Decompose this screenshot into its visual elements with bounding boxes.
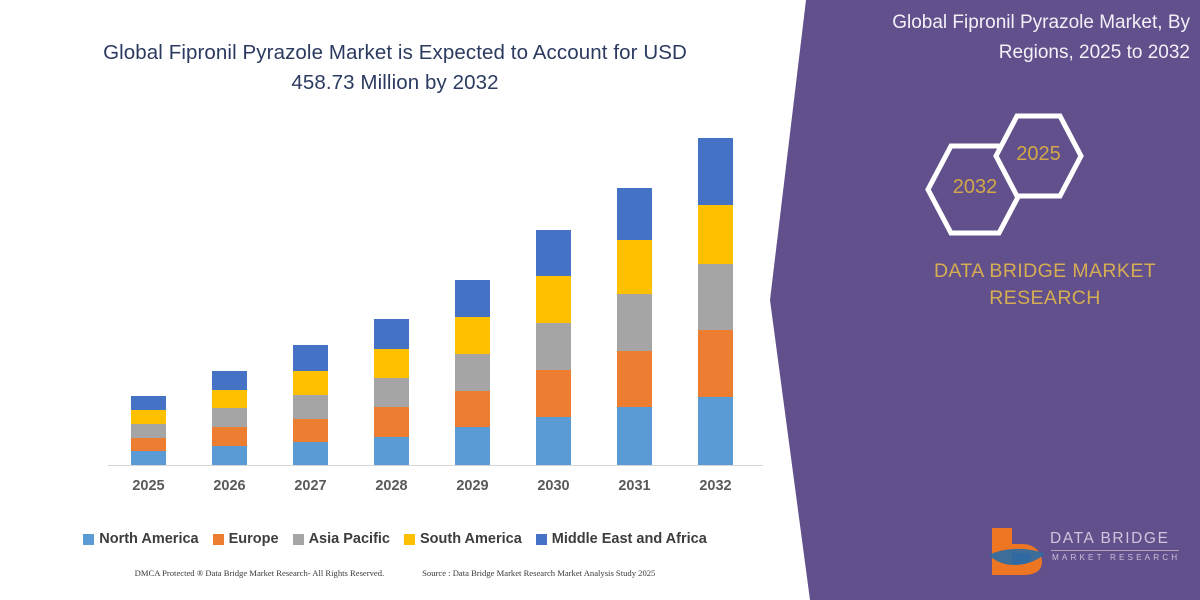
bar-segment-middle-east-and-africa-2027[interactable] — [293, 345, 328, 370]
brand-name: DATA BRIDGE MARKET RESEARCH — [900, 258, 1190, 312]
bar-segment-north-america-2027[interactable] — [293, 442, 328, 466]
page-title: Global Fipronil Pyrazole Market is Expec… — [70, 38, 720, 98]
hexagon-badges: 2032 2025 — [925, 112, 1115, 237]
legend-swatch-icon — [213, 534, 224, 545]
bar-segment-south-america-2027[interactable] — [293, 371, 328, 395]
bar-2025[interactable] — [131, 396, 166, 466]
bar-segment-middle-east-and-africa-2025[interactable] — [131, 396, 166, 411]
bar-2028[interactable] — [374, 319, 409, 466]
bar-2026[interactable] — [212, 371, 247, 466]
bar-segment-north-america-2025[interactable] — [131, 451, 166, 466]
logo-divider — [1051, 550, 1179, 551]
footer-source: Source : Data Bridge Market Research Mar… — [422, 568, 655, 578]
logo-text-main: DATA BRIDGE — [1050, 530, 1170, 548]
bar-segment-north-america-2032[interactable] — [698, 397, 733, 466]
bar-segment-middle-east-and-africa-2032[interactable] — [698, 138, 733, 205]
x-axis-tick-labels: 20252026202720282029203020312032 — [108, 472, 763, 498]
x-label-2028: 2028 — [357, 478, 427, 494]
bar-segment-asia-pacific-2030[interactable] — [536, 323, 571, 369]
legend-label: Middle East and Africa — [552, 531, 707, 547]
bar-segment-europe-2032[interactable] — [698, 330, 733, 397]
bar-segment-north-america-2028[interactable] — [374, 437, 409, 466]
legend-label: Asia Pacific — [309, 531, 390, 547]
legend-item-middle-east-and-africa[interactable]: Middle East and Africa — [536, 531, 707, 547]
bar-2029[interactable] — [455, 280, 490, 466]
bar-segment-middle-east-and-africa-2030[interactable] — [536, 230, 571, 276]
x-label-2030: 2030 — [519, 478, 589, 494]
bar-segment-north-america-2031[interactable] — [617, 407, 652, 466]
bar-segment-north-america-2026[interactable] — [212, 446, 247, 466]
bar-segment-middle-east-and-africa-2028[interactable] — [374, 319, 409, 348]
chart-legend: North AmericaEuropeAsia PacificSouth Ame… — [0, 531, 790, 547]
bar-segment-asia-pacific-2025[interactable] — [131, 424, 166, 438]
legend-label: South America — [420, 531, 522, 547]
legend-item-south-america[interactable]: South America — [404, 531, 522, 547]
hexagon-2025: 2025 — [992, 112, 1085, 200]
bar-segment-south-america-2029[interactable] — [455, 317, 490, 354]
bar-segment-europe-2030[interactable] — [536, 370, 571, 417]
bar-segment-middle-east-and-africa-2031[interactable] — [617, 188, 652, 239]
infographic-root: Global Fipronil Pyrazole Market is Expec… — [0, 0, 1200, 600]
chart-panel: Global Fipronil Pyrazole Market is Expec… — [0, 0, 790, 600]
legend-item-north-america[interactable]: North America — [83, 531, 198, 547]
legend-label: North America — [99, 531, 198, 547]
bar-segment-south-america-2031[interactable] — [617, 240, 652, 295]
footer-copyright: DMCA Protected ® Data Bridge Market Rese… — [135, 568, 385, 578]
legend-swatch-icon — [404, 534, 415, 545]
logo-text-sub: MARKET RESEARCH — [1052, 553, 1180, 562]
bar-2031[interactable] — [617, 188, 652, 466]
panel-title: Global Fipronil Pyrazole Market, By Regi… — [845, 8, 1190, 68]
bar-segment-middle-east-and-africa-2026[interactable] — [212, 371, 247, 390]
bar-2032[interactable] — [698, 138, 733, 466]
legend-swatch-icon — [536, 534, 547, 545]
bar-chart-plot — [108, 120, 763, 466]
x-label-2032: 2032 — [681, 478, 751, 494]
x-label-2031: 2031 — [600, 478, 670, 494]
bar-segment-south-america-2026[interactable] — [212, 390, 247, 409]
x-label-2027: 2027 — [276, 478, 346, 494]
bar-segment-south-america-2030[interactable] — [536, 276, 571, 323]
bar-segment-middle-east-and-africa-2029[interactable] — [455, 280, 490, 317]
bar-segment-europe-2026[interactable] — [212, 427, 247, 446]
logo-mark-icon — [988, 524, 1046, 576]
bar-segment-europe-2025[interactable] — [131, 438, 166, 452]
bar-segment-asia-pacific-2031[interactable] — [617, 294, 652, 351]
data-bridge-logo: DATA BRIDGE MARKET RESEARCH — [988, 522, 1188, 580]
legend-item-europe[interactable]: Europe — [213, 531, 279, 547]
bar-segment-asia-pacific-2026[interactable] — [212, 408, 247, 427]
bar-segment-south-america-2028[interactable] — [374, 349, 409, 378]
bar-segment-europe-2027[interactable] — [293, 419, 328, 442]
bar-2027[interactable] — [293, 345, 328, 466]
x-axis-line — [108, 465, 763, 466]
legend-swatch-icon — [293, 534, 304, 545]
bar-segment-asia-pacific-2032[interactable] — [698, 264, 733, 330]
x-label-2029: 2029 — [438, 478, 508, 494]
bar-segment-north-america-2030[interactable] — [536, 417, 571, 466]
bar-segment-europe-2031[interactable] — [617, 351, 652, 408]
bar-segment-europe-2029[interactable] — [455, 391, 490, 428]
hexagon-2025-label: 2025 — [992, 143, 1085, 166]
bar-2030[interactable] — [536, 230, 571, 466]
legend-swatch-icon — [83, 534, 94, 545]
footer: DMCA Protected ® Data Bridge Market Rese… — [0, 568, 790, 578]
bar-segment-asia-pacific-2027[interactable] — [293, 395, 328, 419]
bar-segment-asia-pacific-2029[interactable] — [455, 354, 490, 391]
bar-segment-south-america-2025[interactable] — [131, 410, 166, 424]
bar-segment-north-america-2029[interactable] — [455, 427, 490, 466]
x-label-2026: 2026 — [195, 478, 265, 494]
legend-label: Europe — [229, 531, 279, 547]
bar-segment-south-america-2032[interactable] — [698, 205, 733, 264]
bar-segment-europe-2028[interactable] — [374, 407, 409, 436]
x-label-2025: 2025 — [114, 478, 184, 494]
bar-segment-asia-pacific-2028[interactable] — [374, 378, 409, 407]
legend-item-asia-pacific[interactable]: Asia Pacific — [293, 531, 390, 547]
